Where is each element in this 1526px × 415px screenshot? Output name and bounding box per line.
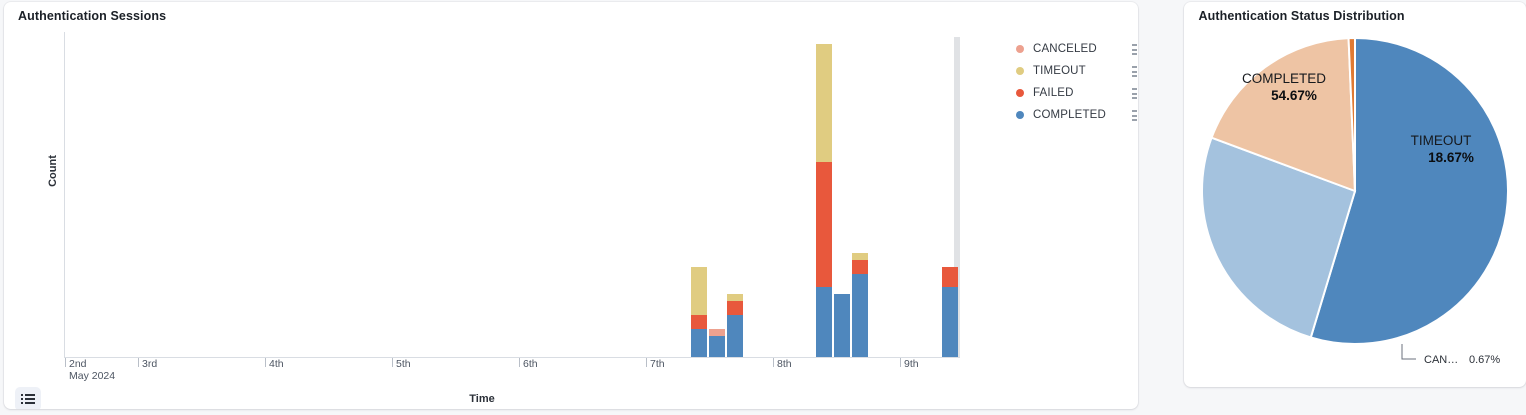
x-axis-tick: 3rd	[141, 358, 157, 370]
legend-item-completed[interactable]: COMPLETED	[1016, 104, 1138, 126]
legend-item-label: CANCELED	[1033, 43, 1097, 55]
legend-color-swatch	[1016, 111, 1024, 119]
bar-segment-failed[interactable]	[727, 301, 743, 315]
x-axis-title: Time	[4, 393, 960, 405]
x-axis-tick: 8th	[776, 358, 792, 370]
authentication-sessions-bar-chart[interactable]: Count Time 2ndMay 20243rd4th5th6th7th8th…	[4, 2, 1138, 409]
distribution-panel-title: Authentication Status Distribution	[1198, 9, 1404, 23]
legend-color-swatch	[1016, 45, 1024, 53]
callout-leader-line	[1402, 344, 1416, 359]
callout-label-name: CAN…	[1424, 354, 1458, 366]
tick-label: 2nd	[68, 358, 115, 370]
legend-item-label: COMPLETED	[1033, 109, 1106, 121]
y-axis-title: Count	[47, 155, 59, 187]
x-axis-line	[64, 357, 960, 358]
x-axis-tick: 6th	[522, 358, 538, 370]
bar-segment-completed[interactable]	[834, 294, 850, 357]
stacked-bar[interactable]	[709, 329, 725, 357]
y-axis-line	[64, 32, 65, 357]
legend-item-label: TIMEOUT	[1033, 65, 1086, 77]
tick-mark	[138, 358, 139, 367]
stacked-bar[interactable]	[816, 44, 832, 357]
x-axis-tick: 7th	[649, 358, 665, 370]
tick-mark	[900, 358, 901, 367]
bar-segment-completed[interactable]	[709, 336, 725, 357]
legend-item-canceled[interactable]: CANCELED	[1016, 38, 1138, 60]
bar-segment-failed[interactable]	[816, 162, 832, 287]
legend-color-swatch	[1016, 89, 1024, 97]
x-axis-tick: 2ndMay 2024	[68, 358, 115, 382]
tick-mark	[519, 358, 520, 367]
x-axis-tick: 4th	[268, 358, 284, 370]
tick-label: 9th	[903, 358, 919, 370]
authentication-sessions-panel: Authentication Sessions Count Time 2ndMa…	[4, 2, 1138, 409]
tick-mark	[646, 358, 647, 367]
x-axis-tick: 5th	[395, 358, 411, 370]
tick-mark	[265, 358, 266, 367]
bar-segment-completed[interactable]	[727, 315, 743, 357]
bar-segment-failed[interactable]	[852, 260, 868, 274]
authentication-status-distribution-panel: Authentication Status Distribution COMPL…	[1184, 2, 1526, 387]
pie-svg: COMPLETED54.67%FAILED26%TIMEOUT18.67%CAN…	[1184, 28, 1526, 387]
tick-sublabel: May 2024	[68, 370, 115, 382]
stacked-bar[interactable]	[691, 267, 707, 357]
stacked-bar[interactable]	[852, 253, 868, 357]
list-icon-glyph	[21, 394, 35, 404]
bar-segment-timeout[interactable]	[691, 267, 707, 316]
legend-item-timeout[interactable]: TIMEOUT	[1016, 60, 1138, 82]
callout-label-value: 0.67%	[1469, 354, 1500, 366]
tick-mark	[773, 358, 774, 367]
bar-segment-completed[interactable]	[816, 287, 832, 357]
legend-item-label: FAILED	[1033, 87, 1074, 99]
bar-segment-completed[interactable]	[852, 274, 868, 357]
tick-label: 7th	[649, 358, 665, 370]
tick-mark	[65, 358, 66, 367]
bar-segment-failed[interactable]	[691, 315, 707, 329]
x-axis-tick: 9th	[903, 358, 919, 370]
tick-label: 3rd	[141, 358, 157, 370]
legend-color-swatch	[1016, 67, 1024, 75]
list-icon[interactable]	[15, 387, 41, 409]
legend-item-failed[interactable]: FAILED	[1016, 82, 1138, 104]
stacked-bar[interactable]	[834, 294, 850, 357]
bar-segment-completed[interactable]	[942, 287, 958, 357]
more-vertical-icon[interactable]	[1130, 66, 1138, 77]
bar-segment-timeout[interactable]	[727, 294, 743, 301]
more-vertical-icon[interactable]	[1130, 44, 1138, 55]
tick-label: 8th	[776, 358, 792, 370]
more-vertical-icon[interactable]	[1130, 110, 1138, 121]
bar-segment-completed[interactable]	[691, 329, 707, 357]
bar-chart-legend: CANCELEDTIMEOUTFAILEDCOMPLETED	[1016, 38, 1138, 126]
bar-segment-failed[interactable]	[942, 267, 958, 288]
tick-label: 5th	[395, 358, 411, 370]
stacked-bar[interactable]	[727, 294, 743, 357]
dashboard: Authentication Sessions Count Time 2ndMa…	[0, 0, 1526, 415]
tick-label: 6th	[522, 358, 538, 370]
tick-mark	[392, 358, 393, 367]
tick-label: 4th	[268, 358, 284, 370]
bar-segment-timeout[interactable]	[852, 253, 868, 260]
pie-callout-canceled: CAN…0.67%	[1402, 344, 1500, 366]
bar-segment-timeout[interactable]	[816, 44, 832, 162]
more-vertical-icon[interactable]	[1130, 88, 1138, 99]
authentication-status-pie-chart[interactable]: COMPLETED54.67%FAILED26%TIMEOUT18.67%CAN…	[1184, 28, 1526, 387]
stacked-bar[interactable]	[942, 267, 958, 357]
bar-segment-canceled[interactable]	[709, 329, 725, 336]
